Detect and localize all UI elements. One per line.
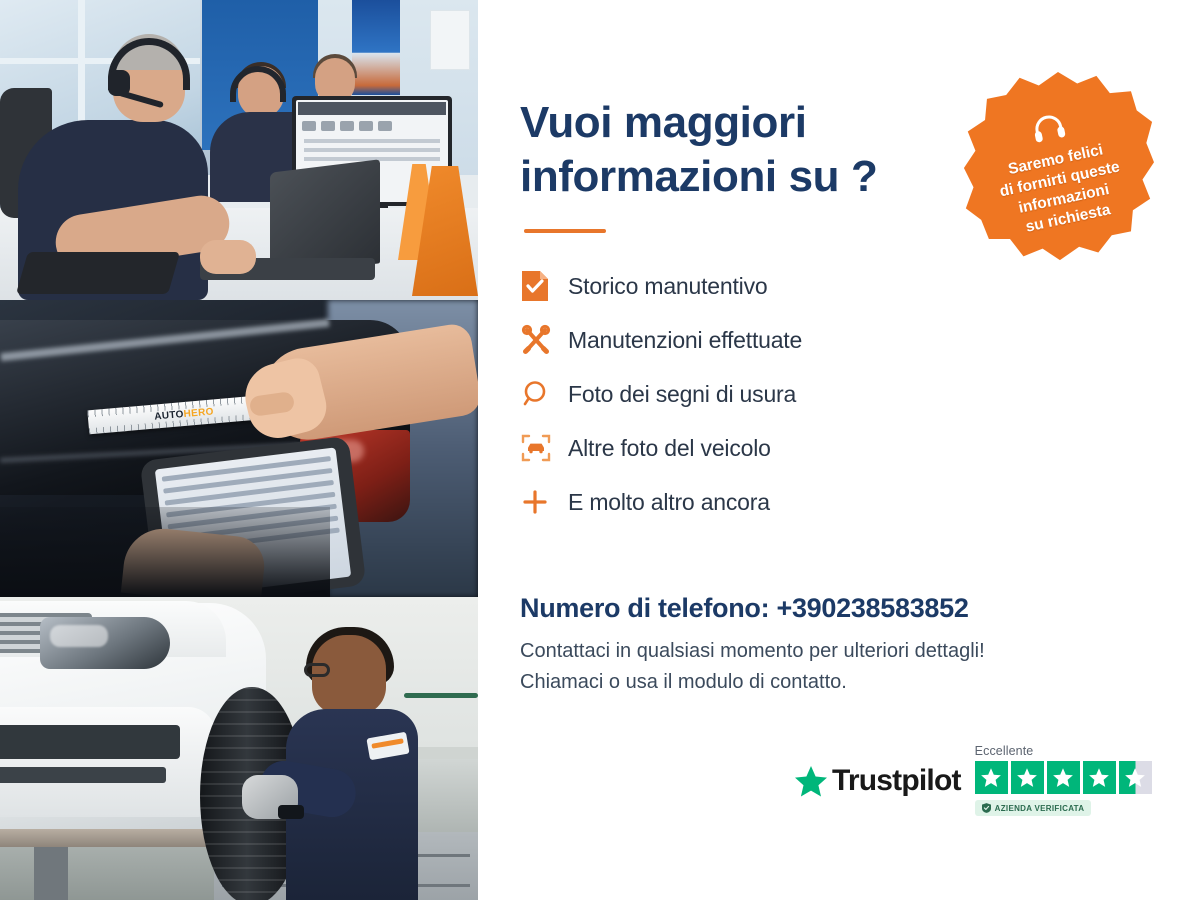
bumper-vent-upper <box>0 725 180 759</box>
title-underline-rule <box>524 229 606 233</box>
screen-header-bar <box>298 102 446 115</box>
trustpilot-star-icon <box>794 765 828 798</box>
shadow-overlay <box>0 507 330 597</box>
list-item: Altre foto del veicolo <box>520 421 1200 475</box>
content-panel: Vuoi maggiori informazioni su ? Storico … <box>478 0 1200 900</box>
photo-column: AUTOHERO <box>0 0 478 900</box>
screen-thumbnails <box>296 117 448 135</box>
list-item-label: Manutenzioni effettuate <box>568 327 802 354</box>
trustpilot-logo: Trustpilot <box>794 764 961 798</box>
mechanic-glasses <box>304 663 330 677</box>
rating-star-half <box>1119 761 1152 794</box>
phone-number-line: Numero di telefono: +390238583852 <box>520 593 1200 624</box>
badge-content: Saremo felici di fornirti queste informa… <box>986 102 1130 242</box>
list-item: Storico manutentivo <box>520 259 1200 313</box>
photo-call-center <box>0 0 478 300</box>
bumper-vent-lower <box>0 767 166 783</box>
list-item-label: Altre foto del veicolo <box>568 435 771 462</box>
mechanic-watch <box>278 805 304 819</box>
trustpilot-widget[interactable]: Trustpilot Eccellente <box>794 744 1152 818</box>
trustpilot-rating: Eccellente <box>975 744 1152 818</box>
lift-support <box>34 847 68 900</box>
page-title: Vuoi maggiori informazioni su ? <box>520 96 950 203</box>
list-item: Foto dei segni di usura <box>520 367 1200 421</box>
rating-star <box>1011 761 1044 794</box>
list-item-label: Storico manutentivo <box>568 273 767 300</box>
trustpilot-wordmark: Trustpilot <box>832 764 961 798</box>
verified-label: AZIENDA VERIFICATA <box>995 804 1085 813</box>
rating-star <box>1083 761 1116 794</box>
magnifier-icon <box>520 379 568 409</box>
callout-badge: Saremo felici di fornirti queste informa… <box>962 72 1154 264</box>
document-check-icon <box>520 269 568 303</box>
photo-vehicle-inspection: AUTOHERO <box>0 300 478 597</box>
contact-description-line-1: Contattaci in qualsiasi momento per ulte… <box>520 636 1200 666</box>
list-item-label: E molto altro ancora <box>568 489 770 516</box>
contact-description: Contattaci in qualsiasi momento per ulte… <box>520 636 1200 697</box>
contact-block: Numero di telefono: +390238583852 Contat… <box>520 593 1200 697</box>
star-rating <box>975 761 1152 794</box>
rating-label: Eccellente <box>975 744 1152 758</box>
car-bumper <box>0 707 216 817</box>
agent-one-hand <box>200 240 256 274</box>
list-item: E molto altro ancora <box>520 475 1200 529</box>
list-item: Manutenzioni effettuate <box>520 313 1200 367</box>
photo-tire-check <box>0 597 478 900</box>
wall-poster <box>352 0 400 95</box>
list-item-label: Foto dei segni di usura <box>568 381 796 408</box>
green-hose <box>404 693 478 698</box>
verified-badge: AZIENDA VERIFICATA <box>975 800 1092 816</box>
advertisement-banner: AUTOHERO <box>0 0 1200 900</box>
car-scan-icon <box>520 432 568 464</box>
desk-tablet <box>16 252 180 294</box>
rating-star <box>975 761 1008 794</box>
car-headlight <box>40 617 170 669</box>
shield-icon <box>982 803 991 813</box>
rating-star <box>1047 761 1080 794</box>
plus-icon <box>520 487 568 517</box>
feature-list: Storico manutentivo Manutenzi <box>520 259 1200 529</box>
tools-cross-icon <box>520 324 568 356</box>
wall-notice <box>430 10 470 70</box>
contact-description-line-2: Chiamaci o usa il modulo di contatto. <box>520 667 1200 697</box>
